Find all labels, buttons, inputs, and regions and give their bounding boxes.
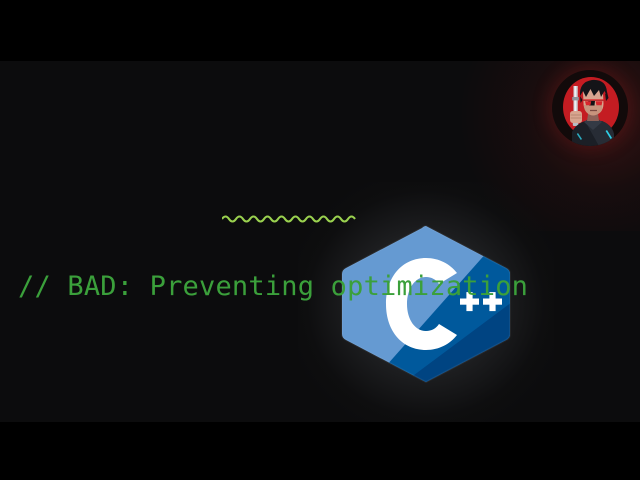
code-block: // BAD: Preventing optimization return s… [18, 143, 528, 422]
code-token-comment: // BAD: Preventing optimization [18, 271, 528, 302]
code-line-comment: // BAD: Preventing optimization [18, 266, 528, 307]
letterbox-bottom [0, 422, 640, 480]
channel-avatar[interactable] [552, 70, 628, 146]
letterbox-top [0, 0, 640, 61]
avatar-character-icon [552, 70, 628, 146]
video-frame: // BAD: Preventing optimization return s… [0, 0, 640, 480]
video-content-area: // BAD: Preventing optimization return s… [0, 61, 640, 422]
